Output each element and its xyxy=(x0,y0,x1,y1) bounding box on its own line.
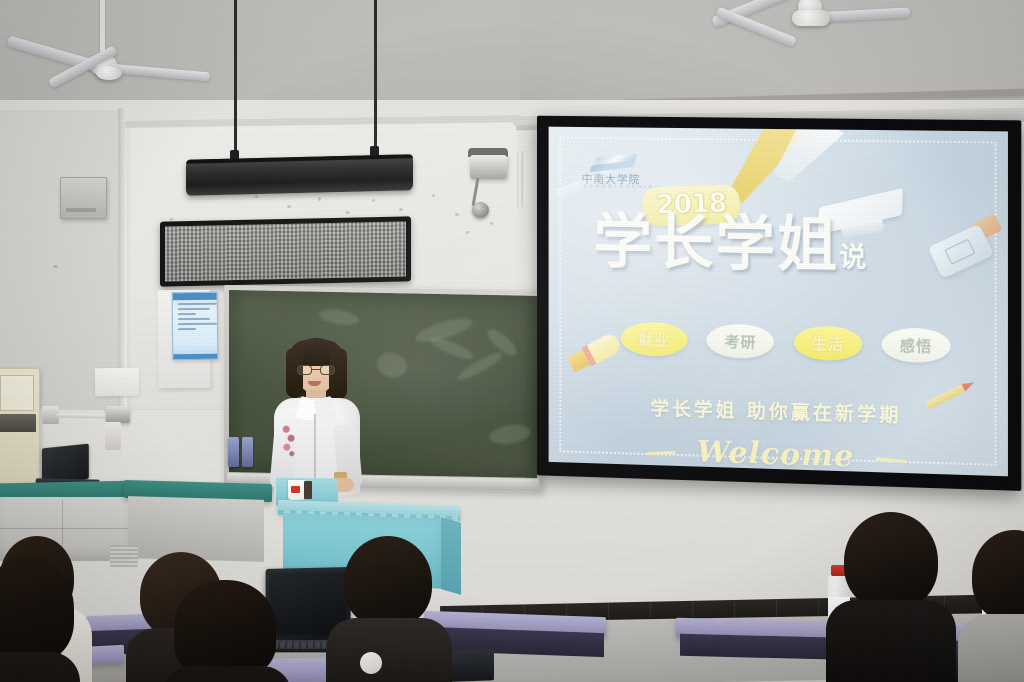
student-head-long-hair xyxy=(0,556,74,662)
cabinet-dark-strip xyxy=(0,414,36,432)
student-head xyxy=(972,530,1024,622)
wall-speck xyxy=(432,194,435,197)
glasses-bridge xyxy=(312,369,320,370)
desk-drawer-seam xyxy=(0,528,128,529)
camera-lens-dome xyxy=(472,202,489,218)
university-logo: 中南大学院 S C H O O L O F C H I N A xyxy=(582,155,652,190)
wall-speck xyxy=(372,199,375,202)
wall-speck xyxy=(490,222,493,225)
glasses-lens-right xyxy=(320,365,335,375)
blackboard-eraser xyxy=(228,437,239,467)
classroom-photo: 中南大学院 S C H O O L O F C H I N A 2018 学长学… xyxy=(0,0,1024,682)
small-container xyxy=(304,481,312,499)
fan-blade xyxy=(715,7,797,48)
poster-text-line xyxy=(178,318,210,320)
poster-footer-bar xyxy=(173,354,217,359)
student-torso-gray-shirt xyxy=(958,614,1024,682)
earbud-case xyxy=(360,652,382,674)
pendant-wire xyxy=(234,0,237,160)
electrical-junction-box xyxy=(60,177,107,219)
student-head-long-hair xyxy=(174,580,276,676)
left-wall-panel xyxy=(0,110,125,410)
pencil-tip xyxy=(961,379,976,392)
poster-text-line xyxy=(178,323,217,325)
usb-drive-graphic xyxy=(566,332,623,375)
topic-badge: 生活 xyxy=(794,325,862,361)
logo-english-name: S C H O O L O F C H I N A xyxy=(584,183,656,189)
student-torso xyxy=(162,666,292,682)
slide-title-suffix: 说 xyxy=(839,242,866,274)
chalk-smudge xyxy=(375,350,409,380)
slide-welcome-text: Welcome xyxy=(549,430,1008,476)
presenter-eyeglasses xyxy=(297,365,335,375)
student-back-7 xyxy=(960,530,1024,682)
topic-badge: 感悟 xyxy=(882,327,951,363)
ceiling-light-grille-panel xyxy=(160,216,411,286)
chalk-smudge xyxy=(488,422,532,446)
topic-badge: 就业 xyxy=(621,322,688,357)
presenter-floral-embroidery xyxy=(282,422,296,458)
projector-head xyxy=(106,406,130,423)
ceiling-fan-left xyxy=(28,0,178,100)
wall-speck xyxy=(466,231,469,234)
poster-text-line xyxy=(178,303,217,305)
wall-speck xyxy=(345,211,350,214)
wall-speck xyxy=(399,208,403,211)
wall-speck xyxy=(318,197,321,201)
student-torso xyxy=(0,652,80,682)
glasses-lens-left xyxy=(297,365,312,375)
wall-corner-edge xyxy=(118,108,127,408)
cabinet-panel xyxy=(0,375,34,411)
fan-hub-cap xyxy=(792,10,830,26)
wall-speck xyxy=(287,205,291,208)
student-headphone-holder xyxy=(336,646,410,682)
student-torso-black-shirt xyxy=(826,600,956,682)
poster-text-line xyxy=(178,308,210,310)
pendant-light-fixture xyxy=(186,154,413,196)
blackboard-erasers xyxy=(228,437,254,467)
fan-hub-cap xyxy=(96,66,122,80)
poster-header-bar xyxy=(173,293,217,300)
wall-speck xyxy=(53,265,58,268)
wall-speck xyxy=(455,213,459,216)
projection-screen-frame: 中南大学院 S C H O O L O F C H I N A 2018 学长学… xyxy=(537,116,1021,491)
pendant-wire xyxy=(374,0,377,148)
student-head xyxy=(844,512,938,610)
wall-speck xyxy=(255,195,258,198)
chalk-smudge xyxy=(428,334,475,363)
projected-slide: 中南大学院 S C H O O L O F C H I N A 2018 学长学… xyxy=(549,127,1008,477)
poster-text-line xyxy=(178,313,196,315)
student-head xyxy=(344,536,432,628)
wall-notice-poster xyxy=(172,292,219,360)
blackboard-eraser xyxy=(242,437,253,467)
wall-outlet-plate xyxy=(105,422,121,450)
student-back-4 xyxy=(166,580,298,682)
chalk-smudge xyxy=(318,307,360,327)
slide-topic-badges: 就业 考研 生活 感悟 xyxy=(621,322,951,364)
student-back-6 xyxy=(826,512,954,682)
wall-notice-sheet xyxy=(95,368,139,397)
paper-cup xyxy=(288,480,305,500)
topic-badge: 考研 xyxy=(707,323,775,359)
slide-title-text: 学长学姐 xyxy=(593,207,839,281)
student-back-2 xyxy=(0,556,88,682)
wall-conduit-pipe xyxy=(517,150,523,208)
poster-text-line xyxy=(178,328,196,330)
ceiling-fan-right xyxy=(700,0,890,74)
slide-main-title: 学长学姐说 xyxy=(593,212,962,291)
surveillance-camera xyxy=(470,155,507,179)
